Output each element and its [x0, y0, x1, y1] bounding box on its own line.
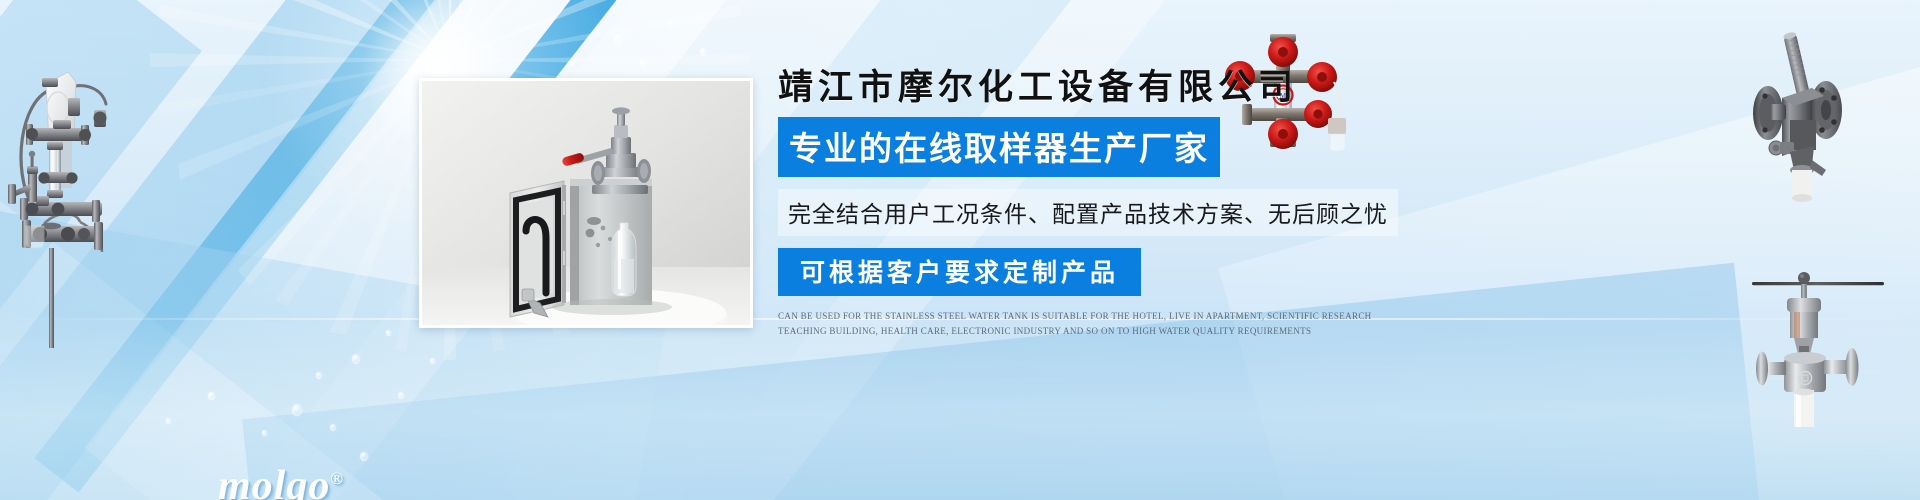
accent-parallelogram-3	[505, 0, 621, 84]
water-droplet	[700, 48, 707, 56]
sampling-valve-assembly	[6, 30, 176, 360]
lever-handle-flange-valve	[1746, 20, 1886, 210]
water-droplet	[360, 452, 368, 461]
brand-watermark: molqo®	[218, 462, 344, 500]
water-droplet	[640, 60, 646, 67]
water-droplet	[330, 424, 336, 431]
water-droplet	[430, 358, 435, 364]
primary-tagline: 专业的在线取样器生产厂家	[778, 117, 1220, 177]
promo-banner: M	[0, 0, 1920, 500]
gate-valve-sampler	[1752, 262, 1902, 427]
english-description: CAN BE USED FOR THE STAINLESS STEEL WATE…	[778, 309, 1382, 340]
water-droplet	[386, 330, 391, 336]
secondary-tagline: 可根据客户要求定制产品	[778, 248, 1141, 296]
sampler-cabinet-photo	[419, 78, 753, 328]
trademark-symbol: ®	[330, 469, 344, 488]
company-name: 靖江市摩尔化工设备有限公司	[778, 70, 1398, 107]
water-droplet	[292, 404, 302, 416]
brand-wordmark: molqo	[218, 463, 330, 500]
water-droplet	[668, 20, 673, 26]
water-droplet	[316, 372, 322, 379]
water-droplet	[570, 60, 575, 66]
water-droplet	[262, 430, 267, 436]
water-droplet	[166, 418, 171, 424]
water-droplet	[614, 34, 623, 45]
description-line: 完全结合用户工况条件、配置产品技术方案、无后顾之忧	[778, 189, 1398, 236]
water-droplet	[208, 392, 215, 400]
water-droplet	[352, 354, 360, 364]
headline-text-block: 靖江市摩尔化工设备有限公司 专业的在线取样器生产厂家 完全结合用户工况条件、配置…	[778, 70, 1398, 340]
water-droplet	[398, 392, 404, 399]
